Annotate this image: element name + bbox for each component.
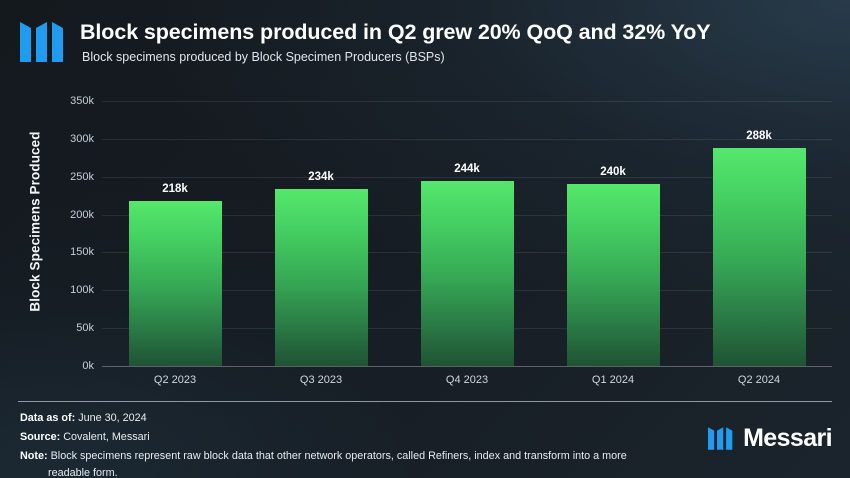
note-value: Block specimens represent raw block data… <box>51 450 627 462</box>
bar[interactable] <box>713 148 806 366</box>
x-axis-tick-label: Q1 2024 <box>567 374 660 386</box>
note-label: Note: <box>20 450 48 462</box>
source-value: Covalent, Messari <box>63 431 149 443</box>
y-axis-tick-label: 350k <box>34 95 94 107</box>
bar-value-label: 240k <box>567 166 660 178</box>
header: Block specimens produced in Q2 grew 20% … <box>0 0 850 82</box>
y-axis-tick-label: 50k <box>34 322 94 334</box>
x-axis-tick-label: Q4 2023 <box>421 374 514 386</box>
note-line-2: readable form. <box>20 465 690 478</box>
y-axis-tick-label: 200k <box>34 209 94 221</box>
brand-wordmark: Messari <box>743 424 832 453</box>
page-subtitle: Block specimens produced by Block Specim… <box>82 50 445 64</box>
footer-divider <box>18 401 832 402</box>
y-axis-tick-label: 100k <box>34 284 94 296</box>
note-line-1: Note: Block specimens represent raw bloc… <box>20 448 690 465</box>
page-title: Block specimens produced in Q2 grew 20% … <box>80 20 711 45</box>
messari-m-logo-icon <box>708 426 734 451</box>
bar[interactable] <box>567 184 660 366</box>
bar-value-label: 218k <box>129 183 222 195</box>
bar[interactable] <box>129 201 222 366</box>
axis-baseline <box>102 366 832 367</box>
y-axis-tick-label: 0k <box>34 360 94 372</box>
y-axis-tick-label: 250k <box>34 171 94 183</box>
x-axis-tick-label: Q2 2023 <box>129 374 222 386</box>
y-axis-tick-label: 300k <box>34 133 94 145</box>
messari-m-logo-icon <box>20 20 66 64</box>
data-as-of-row: Data as of: June 30, 2024 <box>20 410 690 427</box>
bar-value-label: 234k <box>275 171 368 183</box>
data-as-of-label: Data as of: <box>20 412 75 424</box>
footer: Data as of: June 30, 2024 Source: Covale… <box>20 410 690 478</box>
footer-brand: Messari <box>708 424 832 453</box>
note-row: Note: Block specimens represent raw bloc… <box>20 448 690 478</box>
chart-area: Block Specimens Produced 0k50k100k150k20… <box>0 82 850 394</box>
y-axis-tick-label: 150k <box>34 246 94 258</box>
bar-value-label: 288k <box>713 130 806 142</box>
plot-area: 218k234k244k240k288k <box>102 101 832 366</box>
bar[interactable] <box>421 181 514 366</box>
data-as-of-value: June 30, 2024 <box>78 412 146 424</box>
x-axis-tick-label: Q3 2023 <box>275 374 368 386</box>
bar-value-label: 244k <box>421 163 514 175</box>
y-axis-ticks: 0k50k100k150k200k250k300k350k <box>32 101 102 366</box>
source-label: Source: <box>20 431 60 443</box>
gridline <box>102 101 832 102</box>
source-row: Source: Covalent, Messari <box>20 429 690 446</box>
x-axis-tick-label: Q2 2024 <box>713 374 806 386</box>
bar[interactable] <box>275 189 368 366</box>
chart-infographic: Block specimens produced in Q2 grew 20% … <box>0 0 850 478</box>
